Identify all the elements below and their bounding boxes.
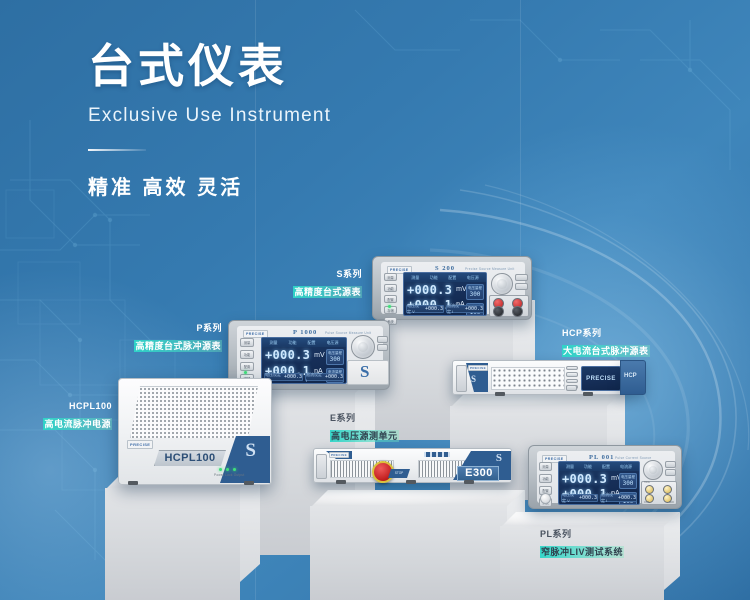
device-model: HCPL100 xyxy=(154,450,226,466)
hero-banner: 台式仪表 Exclusive Use Instrument 精准 高效 灵活 xyxy=(0,0,750,600)
function-key[interactable]: 功能 xyxy=(539,474,552,483)
brand-badge: PRECISE xyxy=(468,365,488,371)
device-model: PL 001 xyxy=(589,454,614,461)
hero-header: 台式仪表 Exclusive Use Instrument 精准 高效 灵活 xyxy=(88,40,331,200)
screen-tab[interactable]: 配置 xyxy=(448,275,456,281)
screen-tab[interactable]: 功能 xyxy=(584,464,592,470)
device-hcpl100[interactable]: S PRECISE HCPL100 Power Lock Output xyxy=(118,378,270,483)
device-model: S 200 xyxy=(435,265,455,272)
connector-panel[interactable]: TRIG OUT GND xyxy=(641,481,677,505)
label-series-name: S系列 xyxy=(240,268,362,280)
page-title: 台式仪表 xyxy=(88,40,331,93)
power-led xyxy=(244,371,247,374)
device-s-series[interactable]: PRECISE S 200 Precise Source Measure Uni… xyxy=(372,256,532,320)
aux-port[interactable] xyxy=(377,344,388,351)
function-key[interactable]: 测量 xyxy=(384,273,397,281)
setpoint-cell: 电压设定 V +000.3 xyxy=(406,305,444,313)
setpoint-label: 电压设定 V xyxy=(562,492,577,504)
estop-label-plate: STOP xyxy=(388,469,410,478)
side-panel-text: HCP xyxy=(624,373,637,379)
label-series-desc: 高电压源测单元 xyxy=(330,430,399,442)
usb-port[interactable] xyxy=(377,336,388,343)
chassis-foot xyxy=(336,480,346,484)
screen-tab[interactable]: 电流源 xyxy=(620,464,632,470)
connector-label: TRIG xyxy=(644,481,650,484)
screen-tab[interactable]: 测量 xyxy=(566,464,574,470)
connector-label: GND xyxy=(669,501,674,504)
setpoint-cell: 限流设定 I +000.3 xyxy=(446,305,484,313)
chassis-foot xyxy=(464,480,474,484)
pedestal xyxy=(310,490,525,600)
screen-tab[interactable]: 配置 xyxy=(308,340,316,346)
power-led xyxy=(388,305,391,308)
range-item: 电压量程 300 xyxy=(466,284,484,300)
usb-port[interactable] xyxy=(566,385,577,391)
screen-footer: 电压设定 V +000.3 限流设定 I +000.3 xyxy=(406,305,484,313)
chassis-foot xyxy=(495,392,505,396)
control-button[interactable] xyxy=(566,372,578,376)
device-screen[interactable]: 测量 功能 配置 电流源 +000.3 mV +000.1 nA 电压量程 30… xyxy=(558,461,640,505)
brand-logo-icon: S xyxy=(471,374,476,384)
rotary-knob[interactable] xyxy=(643,460,663,480)
vent-grille xyxy=(491,367,565,390)
device-pl-series[interactable]: PRECISE PL 001 Pulse Current Source 测量 功… xyxy=(528,445,682,509)
range-value: 300 xyxy=(620,480,636,487)
label-e-series: E系列 高电压源测单元 xyxy=(330,412,399,446)
screen-footer: 电压设定 V +000.3 限流设定 I +000.3 xyxy=(264,373,344,381)
label-hcpl100: HCPL100 高电流脉冲电源 xyxy=(0,400,112,434)
function-key[interactable]: 功能 xyxy=(384,284,397,292)
label-hcp-series: HCP系列 大电流台式脉冲源表 xyxy=(562,327,650,361)
setpoint-value: +000.3 xyxy=(618,495,636,501)
chassis-foot xyxy=(128,481,138,485)
connector-label: OUT xyxy=(644,501,649,504)
setpoint-cell: 电压设定 V +000.3 xyxy=(561,494,598,502)
status-text: Power Lock Output xyxy=(214,473,245,477)
control-button[interactable] xyxy=(566,379,578,383)
rotary-knob[interactable] xyxy=(491,273,513,295)
terminal-black[interactable] xyxy=(493,306,504,317)
device-screen[interactable]: 测量 功能 配置 电压源 +000.3 mV +000.1 nA 电压量程 30… xyxy=(261,337,347,384)
setpoint-value: +000.3 xyxy=(425,306,443,312)
device-model: P 1000 xyxy=(293,329,317,336)
control-button[interactable] xyxy=(566,366,578,370)
terminal-block[interactable] xyxy=(489,295,529,317)
device-screen[interactable]: 测量 功能 配置 电压源 +000.3 mV +000.1 nA 电压量程 30… xyxy=(403,272,487,316)
setpoint-value: +000.3 xyxy=(579,495,597,501)
chassis-foot xyxy=(244,481,254,485)
brand-badge: PRECISE xyxy=(329,452,349,458)
screen-tab[interactable]: 测量 xyxy=(270,340,278,346)
screen-tab[interactable]: 测量 xyxy=(411,275,419,281)
range-item: 电压量程 300 xyxy=(619,473,637,489)
label-series-name: HCP系列 xyxy=(562,327,650,339)
range-value: 300 xyxy=(327,356,343,363)
indicator-strip xyxy=(424,452,450,457)
label-series-desc: 高精度台式脉冲源表 xyxy=(134,340,222,352)
label-series-name: HCPL100 xyxy=(0,400,112,412)
chassis-foot xyxy=(406,480,416,484)
device-model-subtitle: Pulse Current Source xyxy=(615,456,651,460)
status-led xyxy=(219,468,222,471)
label-series-desc: 高精度台式源表 xyxy=(293,286,362,298)
label-series-desc: 大电流台式脉冲源表 xyxy=(562,345,650,357)
screen-tab[interactable]: 配置 xyxy=(602,464,610,470)
chassis-foot xyxy=(583,392,593,396)
brand-logo-icon: S xyxy=(245,440,256,462)
device-model: E300 xyxy=(459,466,499,479)
setpoint-value: +000.3 xyxy=(325,374,343,380)
label-series-desc: 窄脉冲LIV测试系统 xyxy=(540,546,624,558)
device-hcp-side-panel: HCP xyxy=(620,360,646,395)
aux-port[interactable] xyxy=(515,283,528,290)
function-key[interactable]: 功能 xyxy=(240,350,254,359)
pedestal xyxy=(105,470,260,600)
screen-tab[interactable]: 电压源 xyxy=(327,340,339,346)
label-p-series: P系列 高精度台式脉冲源表 xyxy=(108,322,222,356)
device-hcp-series[interactable]: S PRECISE PRECISE xyxy=(452,360,626,395)
setpoint-cell: 限流设定 I +000.3 xyxy=(600,494,637,502)
device-screen[interactable]: PRECISE xyxy=(581,366,621,391)
vent-grille xyxy=(130,386,260,440)
label-pl-series: PL系列 窄脉冲LIV测试系统 xyxy=(540,528,624,562)
setpoint-value: +000.3 xyxy=(284,374,302,380)
label-series-name: E系列 xyxy=(330,412,399,424)
setpoint-label: 限流设定 I xyxy=(601,492,616,504)
screen-tabbar[interactable]: 测量 功能 配置 电压源 xyxy=(404,273,486,282)
status-led xyxy=(226,468,229,471)
reading-value: +000.3 xyxy=(265,348,310,362)
terminal-black[interactable] xyxy=(512,306,523,317)
label-series-name: PL系列 xyxy=(540,528,624,540)
function-key[interactable]: 测量 xyxy=(539,462,552,471)
setpoint-label: 限流设定 I xyxy=(306,372,323,383)
screen-tabbar[interactable]: 测量 功能 配置 电压源 xyxy=(262,338,346,347)
bnc-connector[interactable] xyxy=(645,485,654,494)
screen-tab[interactable]: 电压源 xyxy=(467,275,479,281)
aux-port[interactable] xyxy=(665,469,676,476)
range-label: 电压量程 xyxy=(327,351,343,356)
label-series-desc: 高电流脉冲电源 xyxy=(43,418,112,430)
function-key[interactable]: 配置 xyxy=(384,295,397,303)
usb-port[interactable] xyxy=(515,274,528,281)
label-s-series: S系列 高精度台式源表 xyxy=(240,268,362,302)
range-item: 电压量程 300 xyxy=(326,349,344,365)
page-subtitle: Exclusive Use Instrument xyxy=(88,105,331,127)
screen-brand-text: PRECISE xyxy=(586,376,616,382)
reading-value: +000.3 xyxy=(407,283,452,297)
rack-handle[interactable] xyxy=(456,365,467,392)
setpoint-cell: 限流设定 I +000.3 xyxy=(305,373,344,381)
reading-unit: mV xyxy=(314,352,325,359)
label-series-name: P系列 xyxy=(108,322,222,334)
rack-handle[interactable] xyxy=(316,454,327,479)
range-label: 电压量程 xyxy=(620,475,636,480)
screen-tabbar[interactable]: 测量 功能 配置 电流源 xyxy=(559,462,639,471)
page-tagline: 精准 高效 灵活 xyxy=(88,171,331,200)
setpoint-label: 电压设定 V xyxy=(407,303,423,315)
range-label: 电压量程 xyxy=(467,286,483,291)
device-e300[interactable]: PRECISE STOP S E300 xyxy=(313,448,512,483)
status-led xyxy=(233,468,236,471)
bnc-connector[interactable] xyxy=(663,485,672,494)
power-button[interactable] xyxy=(540,493,551,504)
setpoint-label: 限流设定 I xyxy=(447,303,463,315)
brand-badge: PRECISE xyxy=(127,440,153,449)
title-divider xyxy=(88,149,146,151)
usb-port[interactable] xyxy=(665,461,676,468)
screen-tab[interactable]: 功能 xyxy=(289,340,297,346)
reading-value: +000.3 xyxy=(562,472,607,486)
function-key-column[interactable]: 测量 功能 配置 存储 系统 xyxy=(384,273,397,325)
setpoint-value: +000.3 xyxy=(465,306,483,312)
brand-logo-icon: S xyxy=(360,362,369,382)
screen-footer: 电压设定 V +000.3 限流设定 I +000.3 xyxy=(561,494,637,502)
device-model-subtitle: Precise Source Measure Unit xyxy=(465,267,515,271)
range-value: 300 xyxy=(467,291,483,298)
function-key[interactable]: 配置 xyxy=(240,362,254,371)
function-key[interactable]: 测量 xyxy=(240,338,254,347)
brand-logo-icon: S xyxy=(496,452,502,464)
rotary-knob[interactable] xyxy=(351,335,375,359)
screen-tab[interactable]: 功能 xyxy=(430,275,438,281)
